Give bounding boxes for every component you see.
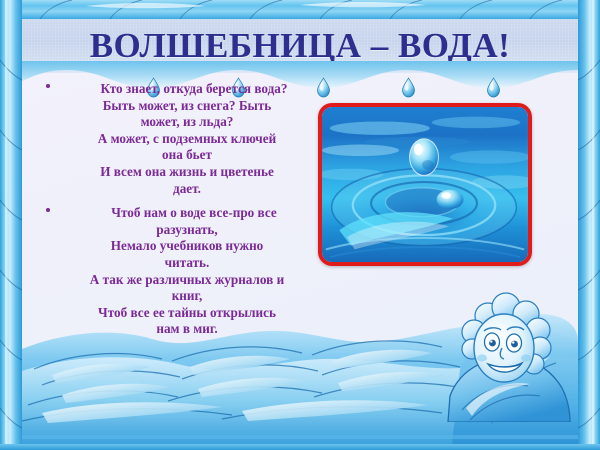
poem-line: может, из льда? — [46, 114, 328, 131]
frame-border-top — [0, 0, 600, 19]
poem-stanza: Кто знает, откуда берется вода? Быть мож… — [28, 81, 328, 197]
water-drop-icon — [401, 77, 416, 98]
slide-canvas: ВОЛШЕБНИЦА – ВОДА! Кто знает, откуда бер… — [0, 0, 600, 450]
poem-line: А может, с подземных ключей — [46, 131, 328, 148]
poem-line: она бьет — [46, 147, 328, 164]
poem-line: Быть может, из снега? Быть — [46, 98, 328, 115]
poem-line: дает. — [46, 181, 328, 198]
frame-border-bottom — [0, 444, 600, 450]
poem-line: книг, — [46, 288, 328, 305]
frame-top-pattern — [0, 0, 600, 19]
poem-body: Кто знает, откуда берется вода? Быть мож… — [28, 81, 328, 346]
water-drop-photo-frame[interactable] — [318, 103, 532, 266]
frame-left-pattern — [0, 0, 22, 450]
poem-line: Немало учебников нужно — [46, 238, 328, 255]
wave-mascot-character — [444, 292, 574, 422]
slide-page: ВОЛШЕБНИЦА – ВОДА! Кто знает, откуда бер… — [22, 19, 578, 444]
poem-line: разузнать, — [46, 222, 328, 239]
water-drop-icon — [486, 77, 501, 98]
poem-line: Чтоб нам о воде все-про все — [46, 205, 328, 222]
frame-border-right — [578, 0, 600, 450]
poem-line: Кто знает, откуда берется вода? — [46, 81, 328, 98]
bullet-marker — [46, 84, 50, 88]
water-drop-photo — [322, 107, 528, 264]
poem-line: И всем она жизнь и цветенье — [46, 164, 328, 181]
frame-right-pattern — [578, 0, 600, 450]
poem-line: читать. — [46, 255, 328, 272]
poem-line: А так же различных журналов и — [46, 272, 328, 289]
frame-border-left — [0, 0, 22, 450]
